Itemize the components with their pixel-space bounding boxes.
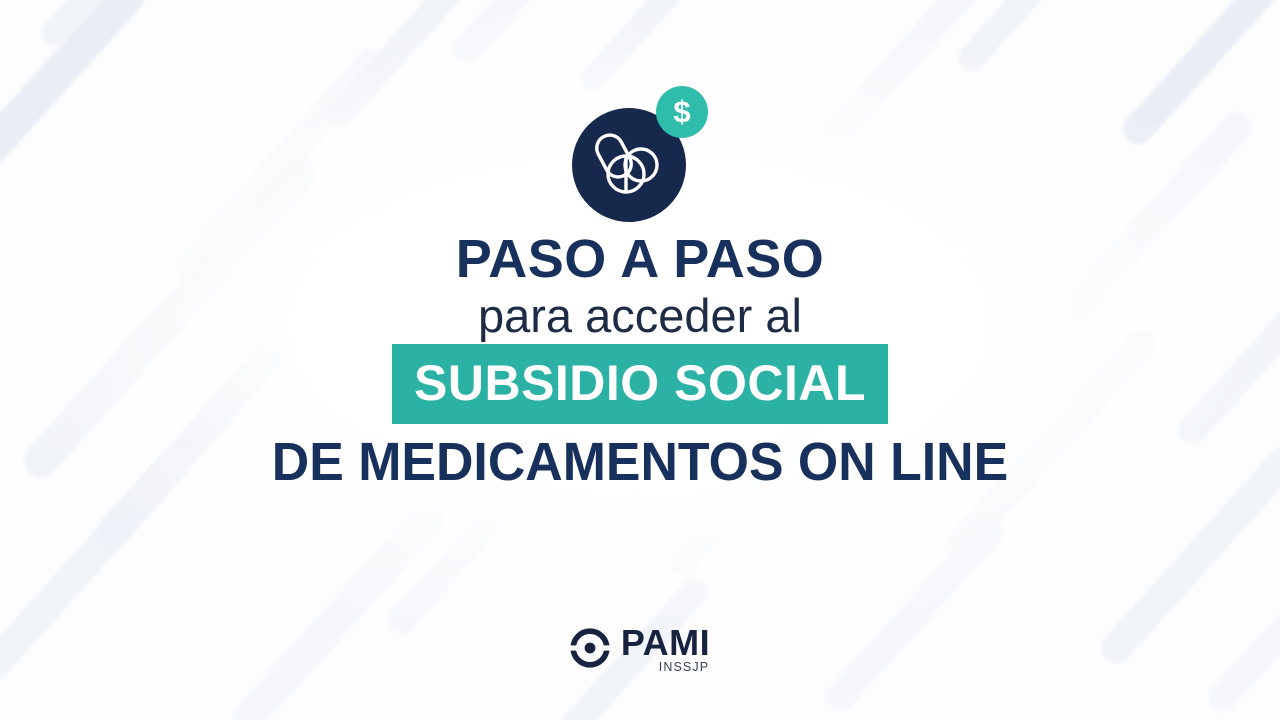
bg-streak [953, 0, 1106, 76]
bg-streak [576, 0, 694, 96]
bg-streak [37, 0, 163, 51]
pami-wordmark: PAMI [621, 626, 710, 659]
hero-icon: $ [0, 86, 1280, 222]
title-block: PASO A PASO para acceder al SUBSIDIO SOC… [0, 232, 1280, 491]
bg-streak [448, 0, 623, 69]
pami-target-mark [570, 628, 610, 668]
headline-line-de-medicamentos-on-line: DE MEDICAMENTOS ON LINE [26, 435, 1255, 490]
headline-line-subsidio-social: SUBSIDIO SOCIAL [392, 344, 888, 424]
dollar-symbol: $ [673, 96, 690, 127]
pami-logo: PAMI INSSJP [0, 626, 1280, 674]
title-slide: $ PASO A PASO para acceder al SUBSIDIO S… [0, 0, 1280, 720]
headline-line-paso-a-paso: PASO A PASO [0, 232, 1280, 287]
headline-highlight-row: SUBSIDIO SOCIAL [0, 344, 1280, 424]
headline-line-para-acceder-al: para acceder al [0, 291, 1280, 340]
bg-streak [228, 494, 453, 720]
bg-streak [821, 512, 1009, 717]
dollar-badge-icon: $ [656, 86, 708, 138]
